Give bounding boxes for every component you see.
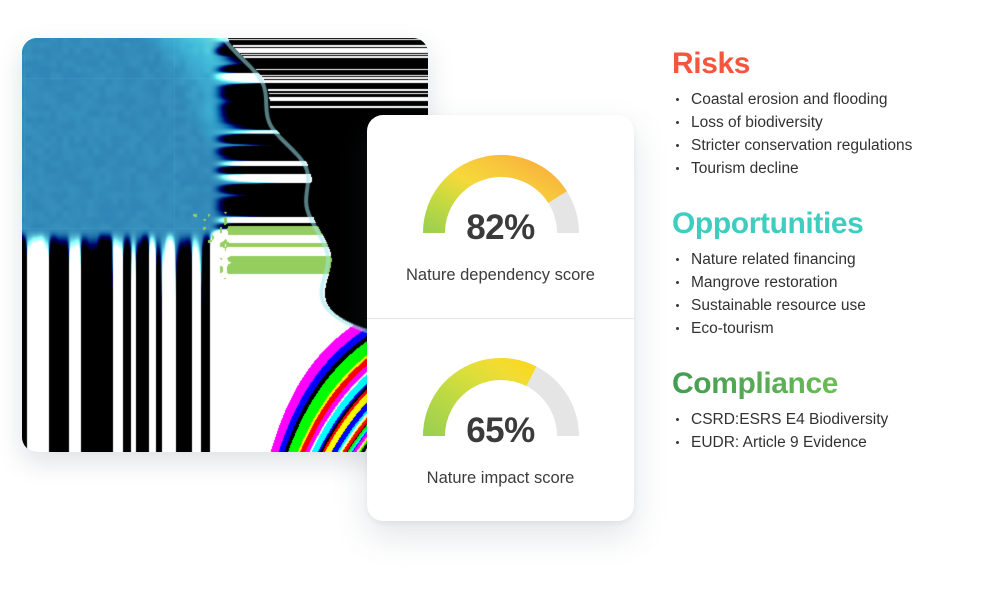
section-title-risks: Risks — [672, 47, 992, 80]
list-item: Sustainable resource use — [672, 296, 992, 316]
list-item: Stricter conservation regulations — [672, 136, 992, 156]
list-item-label: CSRD:ESRS E4 Biodiversity — [691, 411, 888, 428]
bullet-icon — [676, 418, 679, 421]
dashboard-stage: 82% Nature dependency score — [0, 0, 1000, 597]
compliance-list: CSRD:ESRS E4 Biodiversity EUDR: Article … — [672, 410, 992, 453]
bullet-icon — [676, 144, 679, 147]
gauge-nature-dependency: 82% — [412, 148, 590, 244]
insights-column: Risks Coastal erosion and flooding Loss … — [672, 47, 992, 456]
section-title-opportunities: Opportunities — [672, 207, 992, 240]
bullet-icon — [676, 304, 679, 307]
list-item-label: Loss of biodiversity — [691, 114, 823, 131]
bullet-icon — [676, 121, 679, 124]
section-title-compliance: Compliance — [672, 367, 992, 400]
list-item-label: Stricter conservation regulations — [691, 137, 912, 154]
opportunities-list: Nature related financing Mangrove restor… — [672, 250, 992, 339]
list-item-label: Mangrove restoration — [691, 274, 837, 291]
list-item-label: Eco-tourism — [691, 320, 774, 337]
gauge-panel-nature-dependency[interactable]: 82% Nature dependency score — [367, 115, 634, 318]
gauge-value-impact: 65% — [412, 411, 590, 451]
gauge-panel-nature-impact[interactable]: 65% Nature impact score — [367, 319, 634, 522]
bullet-icon — [676, 167, 679, 170]
info-block-compliance: Compliance CSRD:ESRS E4 Biodiversity EUD… — [672, 367, 992, 453]
bullet-icon — [676, 327, 679, 330]
list-item: CSRD:ESRS E4 Biodiversity — [672, 410, 992, 430]
list-item: Nature related financing — [672, 250, 992, 270]
risks-list: Coastal erosion and flooding Loss of bio… — [672, 90, 992, 179]
gauge-label-impact: Nature impact score — [427, 469, 575, 488]
list-item: Mangrove restoration — [672, 273, 992, 293]
bullet-icon — [676, 281, 679, 284]
list-item-label: EUDR: Article 9 Evidence — [691, 434, 867, 451]
list-item: Eco-tourism — [672, 319, 992, 339]
list-item-label: Tourism decline — [691, 160, 799, 177]
bullet-icon — [676, 258, 679, 261]
list-item: EUDR: Article 9 Evidence — [672, 433, 992, 453]
list-item-label: Sustainable resource use — [691, 297, 866, 314]
list-item: Tourism decline — [672, 159, 992, 179]
list-item: Loss of biodiversity — [672, 113, 992, 133]
bullet-icon — [676, 98, 679, 101]
gauge-nature-impact: 65% — [412, 351, 590, 447]
list-item: Coastal erosion and flooding — [672, 90, 992, 110]
list-item-label: Coastal erosion and flooding — [691, 91, 887, 108]
list-item-label: Nature related financing — [691, 251, 856, 268]
gauge-label-dependency: Nature dependency score — [406, 266, 595, 285]
gauge-value-dependency: 82% — [412, 208, 590, 248]
bullet-icon — [676, 441, 679, 444]
score-card: 82% Nature dependency score — [367, 115, 634, 521]
info-block-opportunities: Opportunities Nature related financing M… — [672, 207, 992, 339]
info-block-risks: Risks Coastal erosion and flooding Loss … — [672, 47, 992, 179]
